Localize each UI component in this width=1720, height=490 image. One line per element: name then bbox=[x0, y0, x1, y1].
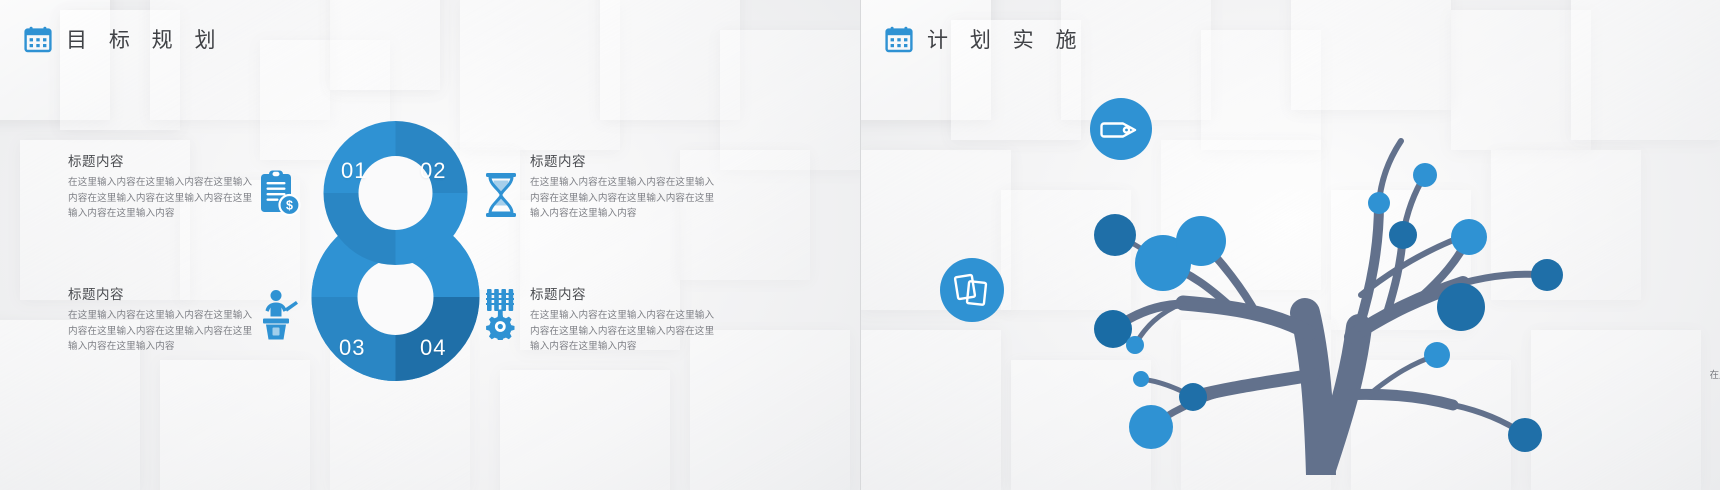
page-title: 计 划 实 施 bbox=[927, 24, 1085, 54]
node-price-tag-outline[interactable] bbox=[1090, 98, 1152, 165]
block-heading: 标题内容 bbox=[68, 283, 254, 303]
segment-number-03: 03 bbox=[339, 335, 365, 361]
slide-header-right: 计 划 实 施 bbox=[885, 24, 1085, 54]
presentation-stage: 目 标 规 划 标题内容 在这里输入内容在这里输入内容在这里输入内容在这里输入内… bbox=[0, 0, 1720, 490]
ring-top bbox=[324, 121, 468, 265]
tree-svg bbox=[901, 75, 1691, 475]
segment-number-02: 02 bbox=[420, 158, 446, 184]
icon-hourglass-wrap bbox=[482, 172, 520, 223]
clipboard-money-icon: $ bbox=[259, 169, 301, 217]
icon-presenter-wrap bbox=[259, 289, 301, 346]
segment-number-01: 01 bbox=[341, 158, 367, 184]
node-body: 在此输入详细文字介绍和详细信息，在此输入详细文字介绍和详细信息。 bbox=[1707, 367, 1720, 398]
page-title: 目 标 规 划 bbox=[66, 24, 224, 54]
figure-eight-svg bbox=[303, 113, 488, 385]
node-cards-stack[interactable] bbox=[940, 258, 1004, 327]
block-body: 在这里输入内容在这里输入内容在这里输入内容在这里输入内容在这里输入内容在这里输入… bbox=[68, 175, 254, 222]
presenter-icon bbox=[259, 289, 301, 341]
block-body: 在这里输入内容在这里输入内容在这里输入内容在这里输入内容在这里输入内容在这里输入… bbox=[68, 308, 254, 355]
block-heading: 标题内容 bbox=[530, 283, 716, 303]
cards-stack-icon bbox=[940, 258, 1004, 322]
block-heading: 标题内容 bbox=[68, 150, 254, 170]
calendar-icon bbox=[885, 26, 913, 53]
segment-number-04: 04 bbox=[420, 335, 446, 361]
text-block-bottom-left: 标题内容 在这里输入内容在这里输入内容在这里输入内容在这里输入内容在这里输入内容… bbox=[68, 283, 254, 355]
block-body: 在这里输入内容在这里输入内容在这里输入内容在这里输入内容在这里输入内容在这里输入… bbox=[530, 175, 716, 222]
icon-clipboard-money-wrap: $ bbox=[259, 169, 301, 222]
medal-gear-icon bbox=[480, 288, 524, 340]
tree-graphic bbox=[901, 75, 1691, 480]
calendar-icon bbox=[24, 26, 52, 53]
block-body: 在这里输入内容在这里输入内容在这里输入内容在这里输入内容在这里输入内容在这里输入… bbox=[530, 308, 716, 355]
node-heading: 点此编辑标题 bbox=[1707, 344, 1720, 363]
text-block-bottom-right: 标题内容 在这里输入内容在这里输入内容在这里输入内容在这里输入内容在这里输入内容… bbox=[530, 283, 716, 355]
hourglass-icon bbox=[482, 172, 520, 218]
svg-text:$: $ bbox=[286, 198, 293, 212]
figure-eight-graphic: 01 02 03 04 bbox=[303, 113, 488, 390]
slide-header-left: 目 标 规 划 bbox=[24, 24, 224, 54]
slide-goal-planning: 目 标 规 划 标题内容 在这里输入内容在这里输入内容在这里输入内容在这里输入内… bbox=[0, 0, 860, 490]
slide-plan-implementation: 计 划 实 施 bbox=[860, 0, 1720, 490]
text-block-top-left: 标题内容 在这里输入内容在这里输入内容在这里输入内容在这里输入内容在这里输入内容… bbox=[68, 150, 254, 222]
text-block-top-right: 标题内容 在这里输入内容在这里输入内容在这里输入内容在这里输入内容在这里输入内容… bbox=[530, 150, 716, 222]
block-heading: 标题内容 bbox=[530, 150, 716, 170]
price-tag-outline-icon bbox=[1090, 98, 1152, 160]
node-text-left: 点此编辑标题 在此输入详细文字介绍和详细信息，在此输入详细文字介绍和详细信息。 bbox=[1707, 344, 1720, 398]
icon-medal-gear-wrap bbox=[480, 288, 524, 345]
